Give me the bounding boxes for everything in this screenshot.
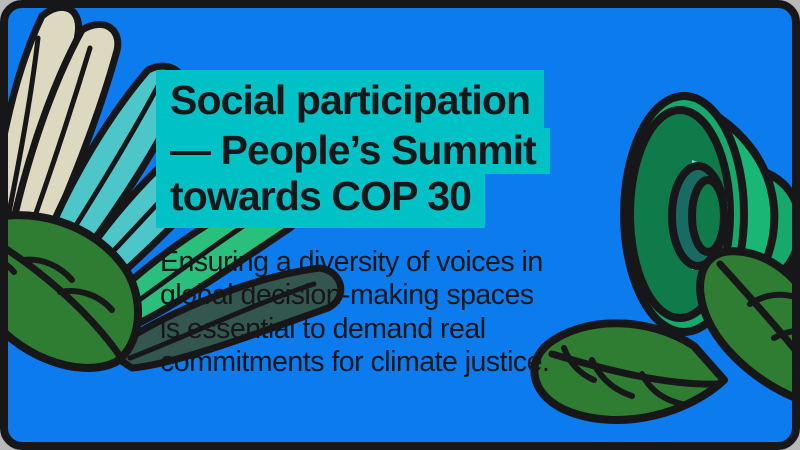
headline-line-2: — People’s Summit [156, 128, 550, 174]
body-line-2: global decision-making spaces [160, 279, 660, 312]
headline-line-3: towards COP 30 [156, 174, 485, 229]
leaf-cluster-left-icon [8, 215, 138, 368]
body-line-3: is essential to demand real [160, 313, 660, 346]
body-paragraph: Ensuring a diversity of voices in global… [160, 246, 660, 378]
body-line-1: Ensuring a diversity of voices in [160, 246, 660, 279]
body-line-4: commitments for climate justice. [160, 346, 660, 379]
text-content: Social participation — People’s Summit t… [156, 70, 716, 379]
page-title: Social participation — People’s Summit t… [156, 70, 716, 228]
infographic-card: Social participation — People’s Summit t… [0, 0, 800, 450]
headline-line-1: Social participation [156, 70, 544, 128]
